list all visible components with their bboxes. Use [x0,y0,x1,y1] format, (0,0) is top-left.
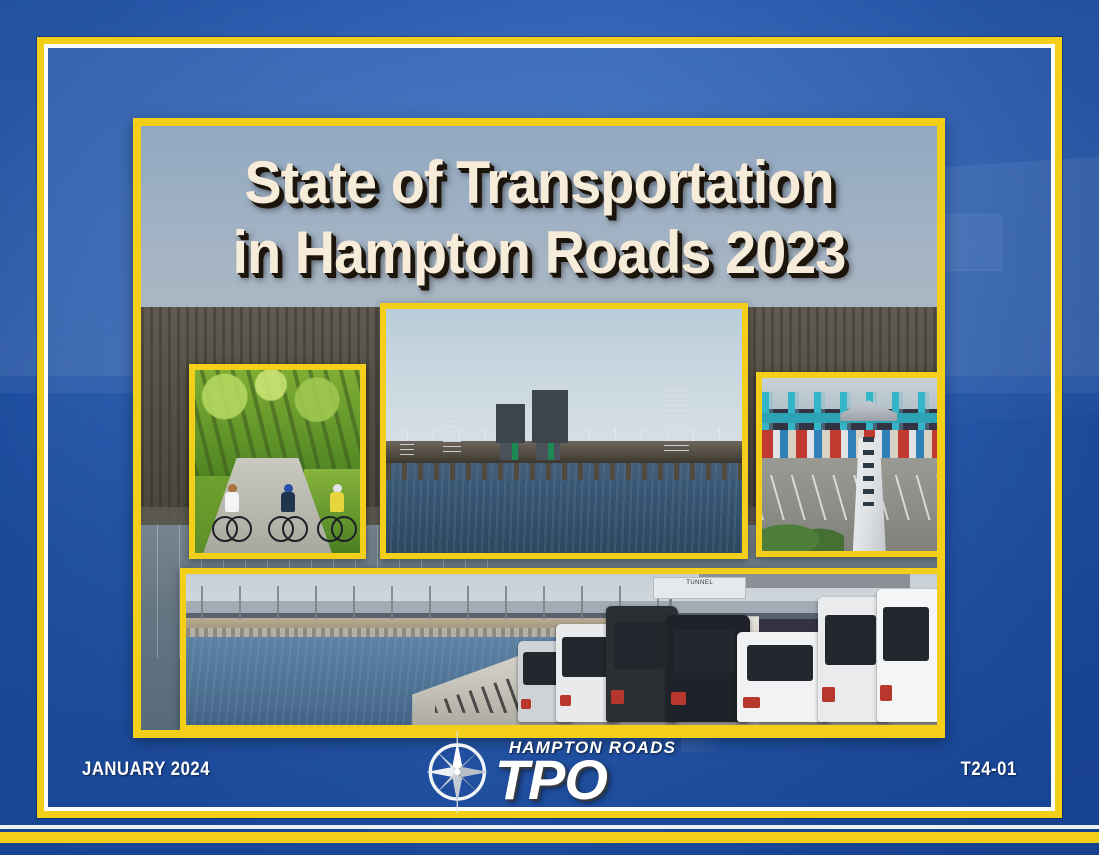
vehicle-taillight [880,685,891,701]
vehicle-window [674,630,735,673]
vehicle-taillight [671,692,686,705]
bridge-photo-content [386,309,742,553]
cyclist-figure [212,484,252,542]
cyclist-figure [317,484,357,542]
vehicle-taillight [560,695,571,707]
photo-lift-bridge [380,303,748,559]
cyclist-body [330,492,344,512]
bicycle-wheel [282,516,308,542]
vehicle-taillight [521,699,531,709]
photo-port-terminal [756,372,945,557]
lift-span-counterweight [512,441,518,461]
shipping-containers [762,430,940,458]
cover-footer: JANUARY 2024 [48,735,1051,811]
cyclist-body [281,492,295,512]
footer-yellow-rail [0,832,1099,843]
tpo-logo-text: HAMPTON ROADS TPO [495,739,676,806]
hero-photo-panel: State of Transportation in Hampton Roads… [133,118,945,738]
bridge-deck [386,441,742,463]
cyclist-figure [268,484,308,542]
logo-acronym: TPO [495,754,676,806]
traffic-photo-content: TUNNEL [186,574,940,725]
vehicle-taillight [822,687,835,702]
vehicle [877,589,940,722]
photo-traffic-congestion: TUNNEL [180,568,945,731]
report-cover-page: State of Transportation in Hampton Roads… [0,0,1099,855]
footer-white-rail [0,825,1099,829]
vehicle-window [883,607,929,660]
vehicle-taillight [743,697,760,708]
tpo-logo: HAMPTON ROADS TPO [423,731,676,813]
photo-bicyclists [189,364,366,559]
lift-tower [532,390,568,444]
bicycle-photo-content [195,370,360,553]
publication-date: JANUARY 2024 [82,759,210,781]
port-photo-content [762,378,940,551]
vehicle-window [614,622,666,668]
transmission-tower [400,429,414,456]
lift-span-counterweight [548,441,554,461]
vehicle [737,632,830,722]
vehicle-window [825,615,877,665]
vehicle-window [747,645,814,681]
control-tower-windows [863,437,874,506]
bicycle-wheel [226,516,252,542]
yard-landscaping [762,513,844,551]
compass-rose-icon [423,731,491,813]
vehicle-taillight [611,690,624,704]
queued-vehicles [518,580,940,725]
transmission-tower [664,390,689,456]
transmission-tower [443,416,461,455]
vehicle-window [562,637,608,676]
report-number: T24-01 [961,759,1017,781]
cyclist-body [225,492,239,512]
bicycle-wheel [331,516,357,542]
lift-tower [496,404,524,443]
